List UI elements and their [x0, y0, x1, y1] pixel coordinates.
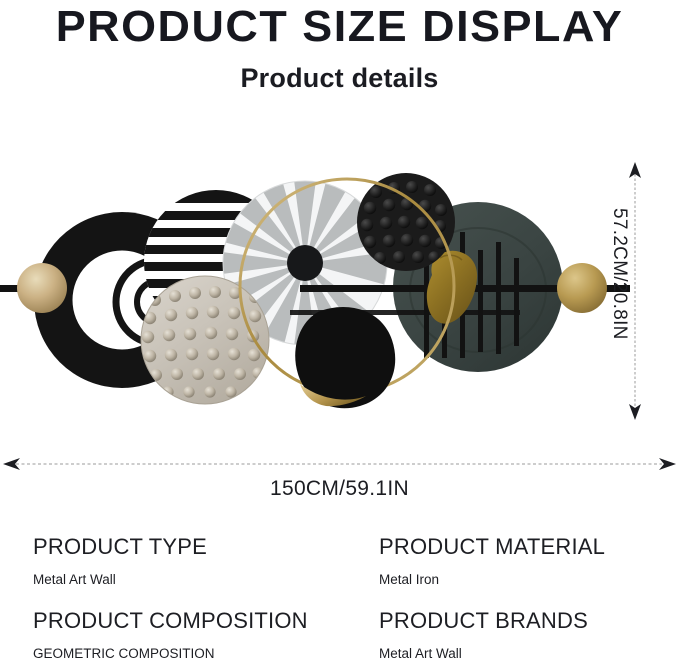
spec-value: Metal Iron	[379, 571, 605, 588]
spec-title: PRODUCT TYPE	[33, 534, 207, 560]
page-subtitle: Product details	[0, 62, 679, 94]
spec-value: Metal Art Wall	[33, 571, 207, 588]
fan-center-hub	[287, 245, 323, 281]
spec-value: Metal Art Wall	[379, 645, 588, 662]
spec-product-material: PRODUCT MATERIAL Metal Iron	[379, 534, 605, 588]
dimension-height-label: 57.2CM/20.8IN	[608, 208, 630, 378]
page-title: PRODUCT SIZE DISPLAY	[0, 2, 679, 52]
product-specs: PRODUCT TYPE Metal Art Wall PRODUCT MATE…	[0, 534, 679, 668]
black-crescent-disc	[295, 307, 395, 408]
product-artwork	[0, 150, 679, 440]
spec-product-type: PRODUCT TYPE Metal Art Wall	[33, 534, 207, 588]
dimension-width-label: 150CM/59.1IN	[0, 477, 679, 501]
page-header: PRODUCT SIZE DISPLAY Product details	[0, 0, 679, 94]
spec-product-composition: PRODUCT COMPOSITION GEOMETRIC COMPOSITIO…	[33, 608, 308, 662]
product-size-display-page: PRODUCT SIZE DISPLAY Product details	[0, 0, 679, 668]
spec-title: PRODUCT COMPOSITION	[33, 608, 308, 634]
silver-dotted-disc	[141, 276, 269, 404]
dimension-width: 150CM/59.1IN	[0, 452, 679, 512]
black-dimpled-disc	[357, 173, 455, 271]
dimension-height: 57.2CM/20.8IN	[600, 160, 670, 422]
gold-ball-left	[17, 263, 67, 313]
spec-value: GEOMETRIC COMPOSITION	[33, 645, 308, 662]
spec-title: PRODUCT BRANDS	[379, 608, 588, 634]
spec-title: PRODUCT MATERIAL	[379, 534, 605, 560]
spec-product-brands: PRODUCT BRANDS Metal Art Wall	[379, 608, 588, 662]
